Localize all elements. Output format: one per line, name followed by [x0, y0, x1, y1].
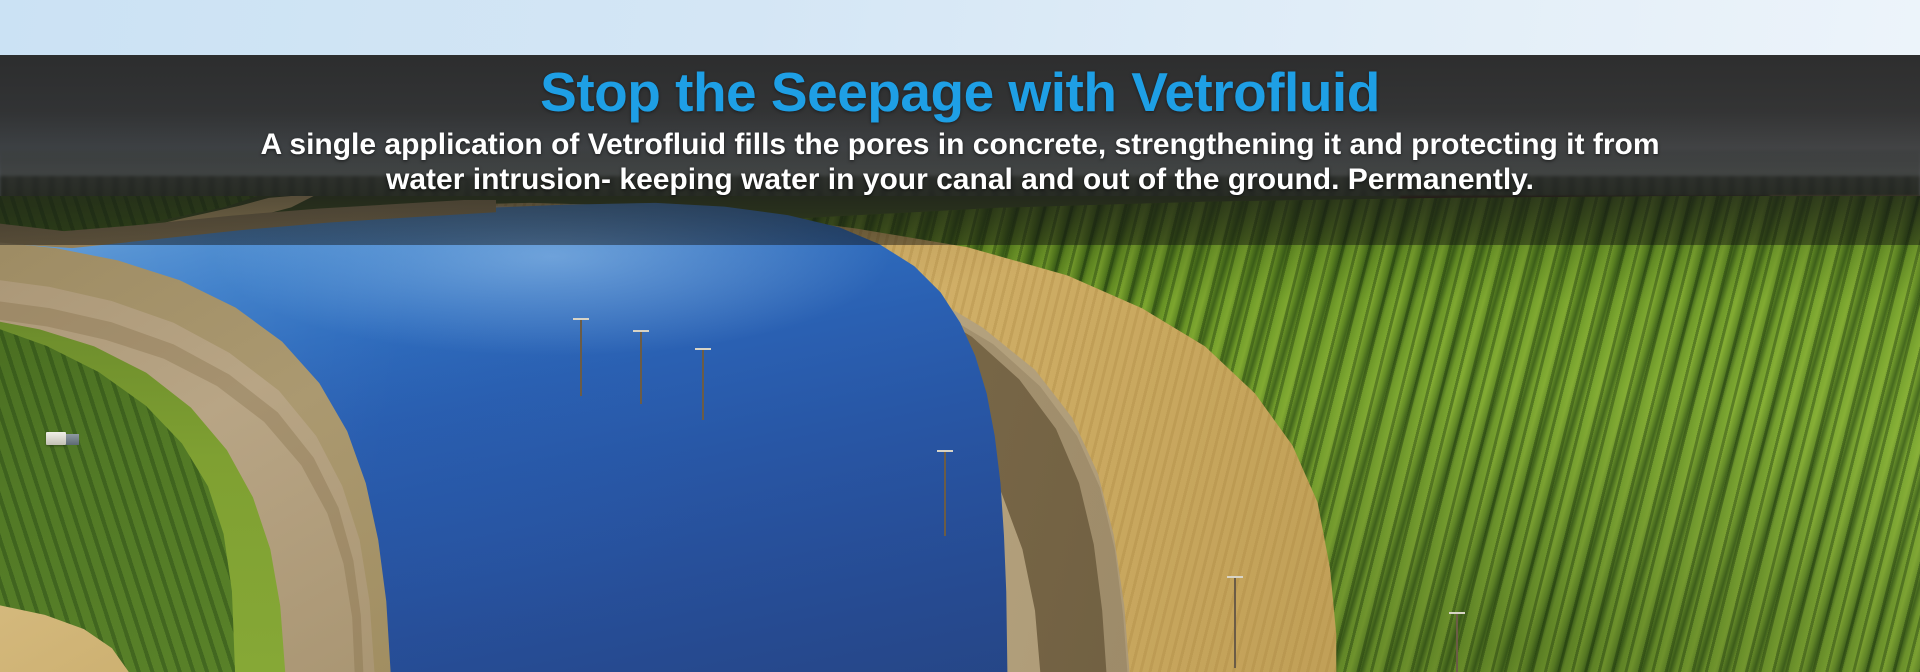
page-title: Stop the Seepage with Vetrofluid — [0, 55, 1920, 123]
utility-pole — [944, 450, 946, 536]
utility-pole — [640, 330, 642, 404]
hero-subtitle-line-1: A single application of Vetrofluid fills… — [0, 123, 1920, 162]
hero-banner: Stop the Seepage with Vetrofluid A singl… — [0, 0, 1920, 672]
pump-house-shed — [66, 434, 79, 445]
hero-text-block: Stop the Seepage with Vetrofluid A singl… — [0, 55, 1920, 245]
utility-pole — [702, 348, 704, 420]
utility-pole — [1234, 576, 1236, 668]
utility-pole — [580, 318, 582, 396]
hero-subtitle-line-2: water intrusion- keeping water in your c… — [0, 162, 1920, 197]
pump-house — [46, 432, 66, 445]
utility-pole — [1456, 612, 1458, 672]
